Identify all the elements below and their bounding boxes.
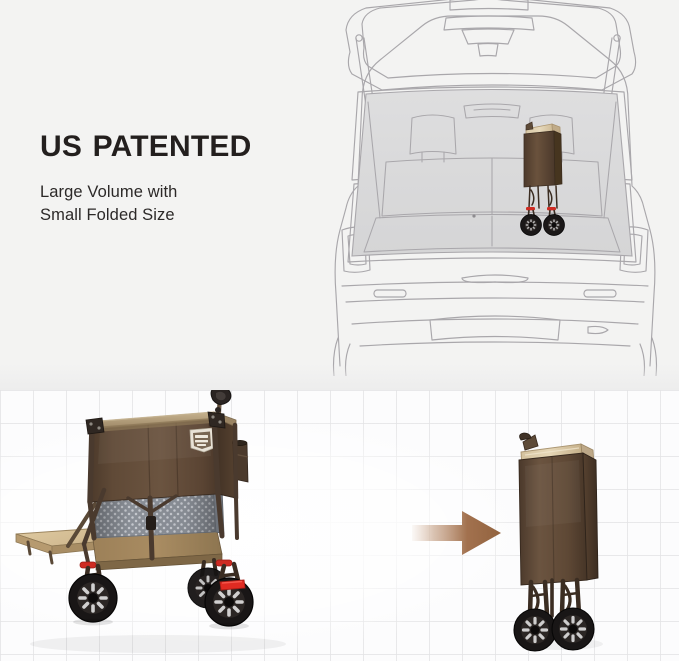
top-panel: US PATENTED Large Volume with Small Fold…: [0, 0, 679, 390]
bottom-panel: [0, 390, 679, 661]
subtitle-line-2: Small Folded Size: [40, 204, 340, 227]
transform-arrow: [412, 507, 502, 559]
subtitle: Large Volume with Small Folded Size: [40, 181, 340, 228]
subtitle-line-1: Large Volume with: [40, 181, 340, 204]
suv-illustration: [302, 0, 679, 376]
infographic-page: US PATENTED Large Volume with Small Fold…: [0, 0, 679, 661]
headline-us-text: US: [40, 130, 82, 163]
product-wagon-folded: [505, 430, 617, 655]
product-wagon-unfolded: [8, 390, 408, 661]
headline-highlight-word: US: [40, 132, 84, 162]
brand-badge-logo: [190, 428, 214, 452]
arrow-shape: [412, 511, 501, 555]
headline-block: US PATENTED Large Volume with Small Fold…: [40, 132, 340, 228]
page-title: US PATENTED: [40, 132, 340, 162]
wheel-front-left: [69, 562, 117, 625]
headline-rest-text: PATENTED: [84, 130, 251, 163]
wagon-wheels: [69, 560, 253, 629]
